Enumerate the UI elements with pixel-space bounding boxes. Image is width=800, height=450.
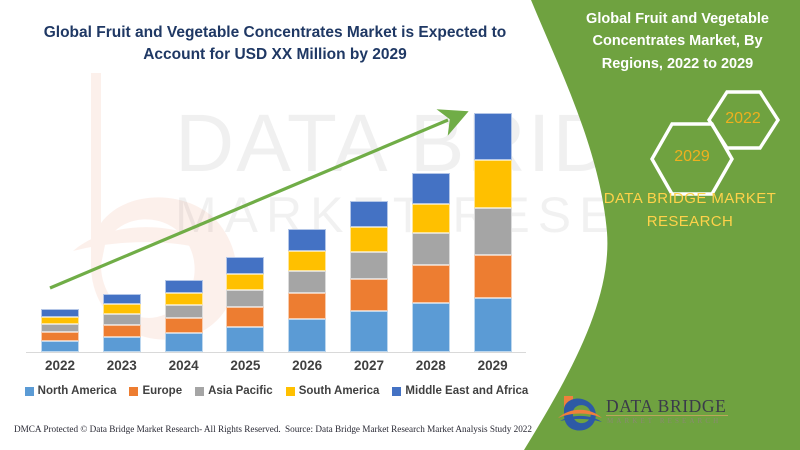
panel-brand: DATA BRIDGE MARKET RESEARCH [590, 188, 790, 233]
logo-subtitle: MARKET RESEARCH [607, 417, 721, 425]
footer-bar: DMCA Protected © Data Bridge Market Rese… [0, 424, 540, 446]
data-bridge-logo: DATA BRIDGE MARKET RESEARCH [556, 392, 746, 438]
logo-divider [606, 415, 728, 416]
panel-brand-line2: RESEARCH [590, 211, 790, 234]
panel-title: Global Fruit and Vegetable Concentrates … [560, 8, 795, 75]
panel-brand-line1: DATA BRIDGE MARKET [590, 188, 790, 211]
logo-title: DATA BRIDGE [606, 396, 726, 417]
data-bridge-b-mark-icon [556, 392, 608, 438]
hexagon-shapes-icon [620, 88, 800, 198]
footer-copyright: DMCA Protected © Data Bridge Market Rese… [14, 424, 281, 434]
hexagon-label-2022: 2022 [709, 110, 777, 128]
hexagon-label-2029: 2029 [658, 148, 726, 166]
footer-source: Source: Data Bridge Market Research Mark… [285, 424, 532, 434]
hexagon-badges: 2022 2029 [620, 88, 800, 198]
infographic-canvas: DATA BRIDGE MARKET RESEARCH Global Fruit… [0, 0, 800, 450]
